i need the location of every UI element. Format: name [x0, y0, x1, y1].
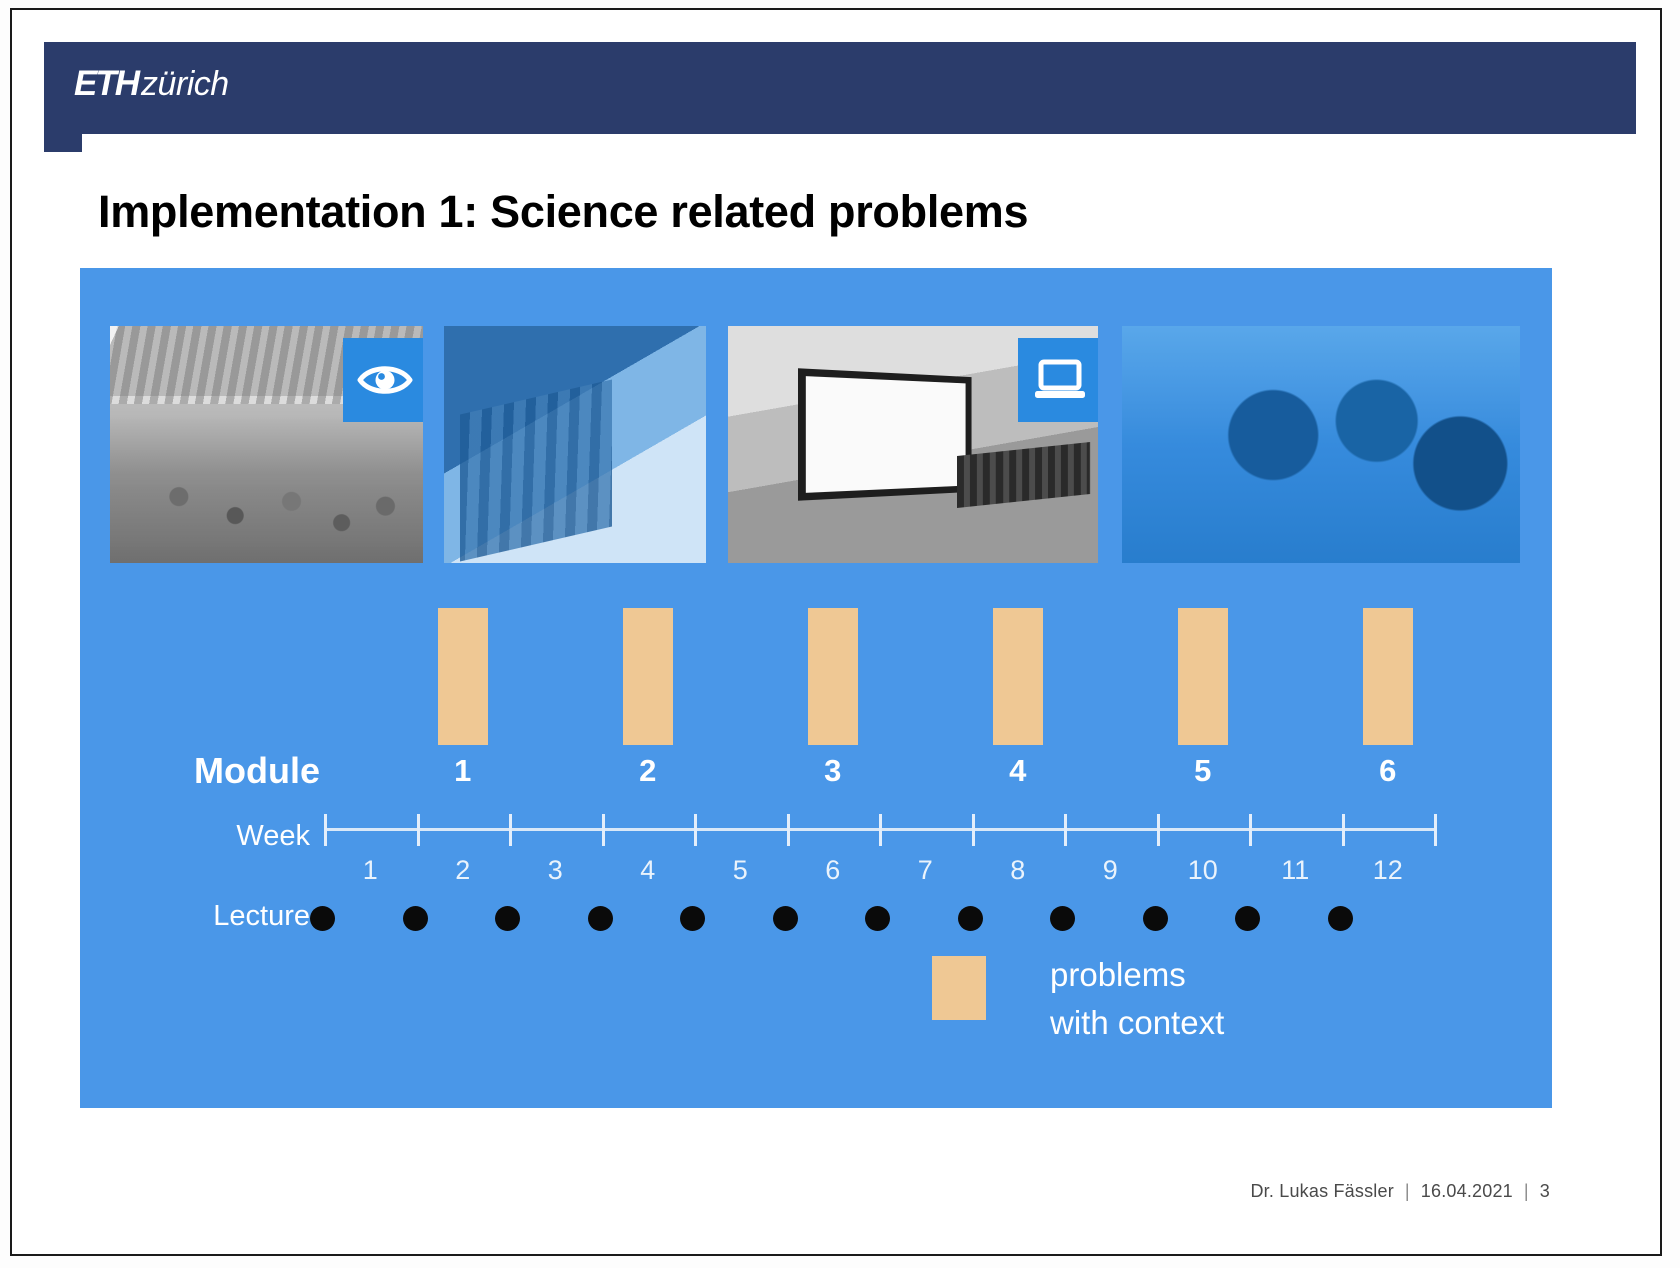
lecture-dot: [403, 906, 428, 931]
module-bar: [1178, 608, 1228, 745]
week-tick: [1157, 814, 1160, 846]
module-bar: [623, 608, 673, 745]
week-number: 11: [1275, 855, 1315, 886]
eth-logo-zurich: zürich: [141, 65, 229, 104]
lecture-dot: [1235, 906, 1260, 931]
lecture-dot: [865, 906, 890, 931]
week-tick: [694, 814, 697, 846]
lecture-dot: [588, 906, 613, 931]
week-number: 6: [813, 855, 853, 886]
module-number: 2: [623, 753, 673, 789]
lecture-dot: [680, 906, 705, 931]
footer-separator-1: |: [1394, 1181, 1421, 1201]
module-number: 5: [1178, 753, 1228, 789]
lecture-dot: [773, 906, 798, 931]
week-number: 7: [905, 855, 945, 886]
week-tick: [602, 814, 605, 846]
module-row-label: Module: [90, 750, 320, 792]
lecture-dot: [495, 906, 520, 931]
week-tick: [1434, 814, 1437, 846]
week-number: 12: [1368, 855, 1408, 886]
legend-label: problems with context: [1050, 951, 1224, 1047]
module-week-timeline: Module Week Lecture 123456 1234567891011…: [80, 268, 1552, 1108]
eth-logo-eth: ETH: [74, 64, 138, 104]
module-bar: [808, 608, 858, 745]
week-number: 5: [720, 855, 760, 886]
slide-footer: Dr. Lukas Fässler|16.04.2021|3: [1250, 1181, 1550, 1202]
week-number: 2: [443, 855, 483, 886]
week-number: 4: [628, 855, 668, 886]
week-tick: [972, 814, 975, 846]
module-bar: [438, 608, 488, 745]
lecture-dot: [310, 906, 335, 931]
week-tick: [509, 814, 512, 846]
module-number: 1: [438, 753, 488, 789]
lecture-row-label: Lecture: [120, 900, 310, 933]
module-number: 6: [1363, 753, 1413, 789]
week-tick: [1249, 814, 1252, 846]
week-tick: [1064, 814, 1067, 846]
module-number: 3: [808, 753, 858, 789]
lecture-dot: [1328, 906, 1353, 931]
module-number: 4: [993, 753, 1043, 789]
week-tick: [879, 814, 882, 846]
content-panel: Module Week Lecture 123456 1234567891011…: [80, 268, 1552, 1108]
eth-header-notch: [82, 134, 1636, 160]
footer-separator-2: |: [1513, 1181, 1540, 1201]
footer-author: Dr. Lukas Fässler: [1250, 1181, 1393, 1201]
week-row-label: Week: [120, 820, 310, 853]
lecture-dot: [1143, 906, 1168, 931]
slide: ETHzürich Implementation 1: Science rela…: [10, 8, 1662, 1256]
week-tick: [787, 814, 790, 846]
module-bar: [993, 608, 1043, 745]
week-number: 8: [998, 855, 1038, 886]
lecture-dot: [958, 906, 983, 931]
week-number: 10: [1183, 855, 1223, 886]
week-tick: [324, 814, 327, 846]
page-title: Implementation 1: Science related proble…: [98, 186, 1028, 238]
lecture-dot: [1050, 906, 1075, 931]
week-tick: [1342, 814, 1345, 846]
week-number: 1: [350, 855, 390, 886]
footer-page-number: 3: [1540, 1181, 1550, 1201]
week-number: 9: [1090, 855, 1130, 886]
legend-swatch: [932, 956, 986, 1020]
footer-date: 16.04.2021: [1421, 1181, 1513, 1201]
module-bar: [1363, 608, 1413, 745]
eth-logo: ETHzürich: [74, 64, 229, 104]
week-number: 3: [535, 855, 575, 886]
week-tick: [417, 814, 420, 846]
